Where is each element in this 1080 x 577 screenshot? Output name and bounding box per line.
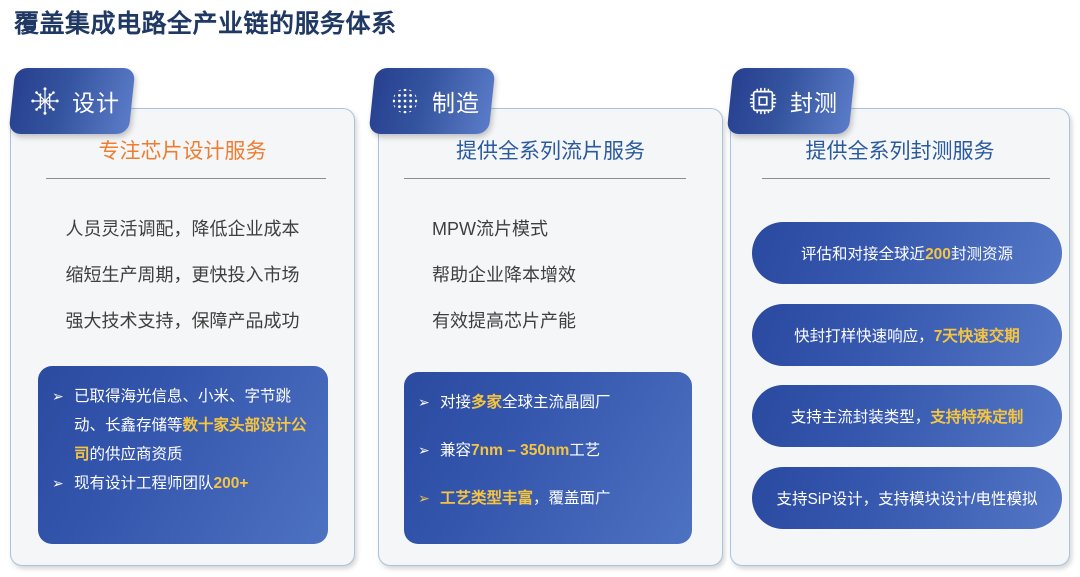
segment-plain: 评估和对接全球近 [801,246,925,263]
feature-bullet: ➢ 对接多家全球主流晶圆厂 [418,388,678,417]
chip-package-icon [748,86,778,116]
card-design-feature-box: ➢ 已取得海光信息、小米、字节跳动、长鑫存储等数十家头部设计公司的供应商资质 ➢… [38,366,328,544]
card-design-divider [46,178,326,179]
package-pill: 支持SiP设计，支持模块设计/电性模拟 [752,467,1062,529]
card-design-banner-label: 设计 [72,84,120,118]
card-manufacture-banner: 制造 [369,68,496,134]
card-manufacture-divider [404,178,686,179]
card-manufacture-text-lines: MPW流片模式 帮助企业降本增效 有效提高芯片产能 [432,206,722,344]
arrow-icon: ➢ [418,388,440,417]
card-design-text-lines: 人员灵活调配，降低企业成本 缩短生产周期，更快投入市场 强大技术支持，保障产品成… [10,206,355,344]
snowflake-design-icon [30,86,60,116]
segment-plain: 封测资源 [951,246,1013,263]
card-manufacture-subtitle: 提供全系列流片服务 [378,135,723,165]
card-package-banner: 封测 [727,68,856,134]
segment-highlight: 200+ [214,475,249,492]
segment-highlight: 支持特殊定制 [930,409,1023,426]
text-line: 人员灵活调配，降低企业成本 [10,206,355,252]
card-manufacture-banner-label: 制造 [432,84,480,118]
segment-plain: 的供应商资质 [90,446,183,463]
segment-plain: 对接 [440,394,471,411]
pill-text: 支持SiP设计，支持模块设计/电性模拟 [777,487,1038,509]
segment-highlight: 7nm – 350nm [471,442,569,459]
card-manufacture-feature-box: ➢ 对接多家全球主流晶圆厂 ➢ 兼容7nm – 350nm工艺 ➢ 工艺类型丰富… [404,372,692,544]
text-line: 缩短生产周期，更快投入市场 [10,252,355,298]
card-package-banner-label: 封测 [790,84,838,118]
arrow-icon: ➢ [418,436,440,465]
text-line: 强大技术支持，保障产品成功 [10,298,355,344]
text-line: 有效提高芯片产能 [432,298,722,344]
segment-plain: 支持主流封装类型， [791,409,931,426]
feature-bullet: ➢ 兼容7nm – 350nm工艺 [418,436,678,465]
feature-bullet-text: 对接多家全球主流晶圆厂 [440,388,678,417]
package-pill: 快封打样快速响应，7天快速交期 [752,304,1062,366]
page-title: 覆盖集成电路全产业链的服务体系 [14,4,397,40]
text-line: 帮助企业降本增效 [432,252,722,298]
feature-bullet: ➢ 已取得海光信息、小米、字节跳动、长鑫存储等数十家头部设计公司的供应商资质 [52,382,314,469]
feature-bullet-text: 兼容7nm – 350nm工艺 [440,436,678,465]
pill-text: 快封打样快速响应，7天快速交期 [794,324,1020,346]
pill-text: 评估和对接全球近200封测资源 [801,242,1013,264]
package-pill: 支持主流封装类型，支持特殊定制 [752,385,1062,447]
pill-text: 支持主流封装类型，支持特殊定制 [791,405,1024,427]
segment-plain: 兼容 [440,442,471,459]
feature-bullet-text: 现有设计工程师团队200+ [74,469,314,498]
feature-bullet-text: 工艺类型丰富，覆盖面广 [440,484,678,513]
segment-plain: ，覆盖面广 [533,490,611,507]
segment-plain: 工艺 [569,442,600,459]
segment-highlight: 工艺类型丰富 [440,490,533,507]
arrow-icon: ➢ [418,484,440,513]
card-design-subtitle: 专注芯片设计服务 [10,135,355,165]
arrow-icon: ➢ [52,382,74,411]
segment-highlight: 200 [925,246,951,263]
segment-plain: 快封打样快速响应， [794,328,934,345]
card-design-banner: 设计 [9,68,136,134]
segment-highlight: 多家 [471,394,502,411]
arrow-icon: ➢ [52,469,74,498]
feature-bullet: ➢ 工艺类型丰富，覆盖面广 [418,484,678,513]
package-pill: 评估和对接全球近200封测资源 [752,222,1062,284]
segment-highlight: 7天快速交期 [934,328,1020,345]
text-line: MPW流片模式 [432,206,722,252]
card-package-divider [762,178,1050,179]
segment-plain: 现有设计工程师团队 [74,475,214,492]
feature-bullet: ➢ 现有设计工程师团队200+ [52,469,314,498]
feature-bullet-text: 已取得海光信息、小米、字节跳动、长鑫存储等数十家头部设计公司的供应商资质 [74,382,314,469]
segment-plain: 支持SiP设计，支持模块设计/电性模拟 [777,491,1038,508]
card-package-subtitle: 提供全系列封测服务 [730,135,1070,165]
segment-plain: 全球主流晶圆厂 [502,394,611,411]
wafer-dot-grid-icon [390,86,420,116]
